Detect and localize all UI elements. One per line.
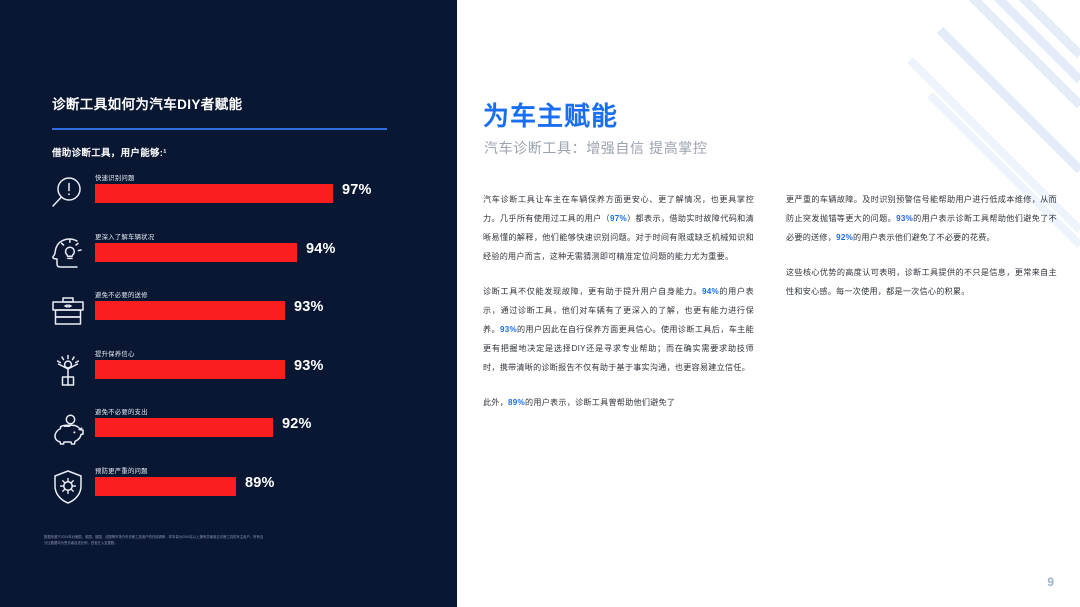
magnifier-alert-icon (48, 174, 88, 214)
page-number: 9 (1047, 575, 1054, 589)
body-text: 诊断工具不仅能发现故障，更有助于提升用户自身能力。 (483, 287, 702, 296)
chart-bar-fill (95, 477, 236, 496)
stat-highlight: 89% (508, 398, 525, 407)
chart-bar-value: 93% (294, 358, 324, 374)
stat-highlight: 94% (702, 287, 719, 296)
chart-bar-row: 快速识别问题97% (44, 172, 414, 231)
chart-bar-value: 94% (306, 241, 336, 257)
chart-bar-value: 97% (342, 182, 372, 198)
chart-bar-track (95, 360, 370, 379)
title-divider (52, 128, 387, 130)
body-paragraph: 汽车诊断工具让车主在车辆保养方面更安心、更了解情况，也更具掌控力。几乎所有使用过… (483, 190, 754, 266)
chart-bar-label: 避免不必要的送修 (95, 290, 148, 299)
person-confident-icon (48, 350, 88, 390)
chart-bar-fill (95, 360, 285, 379)
chart-bar-value: 92% (282, 416, 312, 432)
body-columns: 汽车诊断工具让车主在车辆保养方面更安心、更了解情况，也更具掌控力。几乎所有使用过… (483, 190, 1058, 428)
chart-bar-track (95, 184, 370, 203)
chart-bar-label: 快速识别问题 (95, 173, 135, 182)
piggy-bank-icon (48, 408, 88, 448)
chart-bar-value: 93% (294, 299, 324, 315)
stat-highlight: 93% (896, 214, 913, 223)
body-paragraph: 诊断工具不仅能发现故障，更有助于提升用户自身能力。94%的用户表示，通过诊断工具… (483, 282, 754, 377)
head-lightbulb-icon (48, 233, 88, 273)
body-column-left: 汽车诊断工具让车主在车辆保养方面更安心、更了解情况，也更具掌控力。几乎所有使用过… (483, 190, 754, 428)
body-paragraph: 这些核心优势的高度认可表明，诊断工具提供的不只是信息，更常来自主性和安心感。每一… (786, 263, 1057, 301)
footnote-text: 数据来源于2024年对美国、英国、德国、法国等市场汽车诊断工具用户的在线调研，样… (44, 534, 264, 547)
page-subtitle: 汽车诊断工具：增强自信 提高掌控 (484, 138, 708, 158)
chart-bar-label: 提升保养信心 (95, 349, 135, 358)
stat-highlight: 97% (610, 214, 627, 223)
right-content-panel: 为车主赋能 汽车诊断工具：增强自信 提高掌控 汽车诊断工具让车主在车辆保养方面更… (457, 0, 1080, 607)
chart-bar-row: 提升保养信心93% (44, 348, 414, 407)
chart-bar-row: 更深入了解车辆状况94% (44, 231, 414, 290)
left-chart-panel: 诊断工具如何为汽车DIY者赋能 借助诊断工具，用户能够:¹ 快速识别问题97%更… (0, 0, 457, 607)
body-text: 的用户因此在自行保养方面更具信心。使用诊断工具后，车主能更有把握地决定是选择DI… (483, 325, 754, 372)
chart-bar-fill (95, 301, 285, 320)
stat-highlight: 92% (836, 233, 853, 242)
chart-bar-fill (95, 243, 297, 262)
chart-bar-row: 避免不必要的送修93% (44, 289, 414, 348)
shield-gear-icon (48, 467, 88, 507)
body-text: 的用户表示他们避免了不必要的花费。 (853, 233, 995, 242)
chart-bar-value: 89% (245, 475, 275, 491)
chart-bar-label: 更深入了解车辆状况 (95, 232, 154, 241)
chart-bar-label: 避免不必要的支出 (95, 407, 148, 416)
body-paragraph: 此外，89%的用户表示，诊断工具曾帮助他们避免了 (483, 393, 754, 412)
chart-bar-label: 预防更严重的问题 (95, 466, 148, 475)
chart-bar-row: 预防更严重的问题89% (44, 465, 414, 524)
body-column-right: 更严重的车辆故障。及时识别预警信号能帮助用户进行低成本维修，从而防止突发抛锚等更… (786, 190, 1057, 428)
chart-bar-track (95, 418, 370, 437)
chart-bar-fill (95, 418, 273, 437)
body-text: 这些核心优势的高度认可表明，诊断工具提供的不只是信息，更常来自主性和安心感。每一… (786, 268, 1057, 296)
chart-subtitle: 借助诊断工具，用户能够:¹ (52, 145, 167, 159)
chart-bar-fill (95, 184, 333, 203)
page-title: 为车主赋能 (483, 96, 618, 133)
slide-page: 诊断工具如何为汽车DIY者赋能 借助诊断工具，用户能够:¹ 快速识别问题97%更… (0, 0, 1080, 607)
chart-bar-row: 避免不必要的支出92% (44, 406, 414, 465)
body-text: 此外， (483, 398, 508, 407)
stat-highlight: 93% (500, 325, 517, 334)
chart-bar-track (95, 301, 370, 320)
bar-chart: 快速识别问题97%更深入了解车辆状况94%避免不必要的送修93%提升保养信心93… (44, 172, 414, 523)
left-panel-title: 诊断工具如何为汽车DIY者赋能 (52, 96, 392, 114)
toolbox-icon (48, 291, 88, 331)
body-paragraph: 更严重的车辆故障。及时识别预警信号能帮助用户进行低成本维修，从而防止突发抛锚等更… (786, 190, 1057, 247)
chart-bar-track (95, 477, 370, 496)
body-text: 的用户表示，诊断工具曾帮助他们避免了 (525, 398, 675, 407)
